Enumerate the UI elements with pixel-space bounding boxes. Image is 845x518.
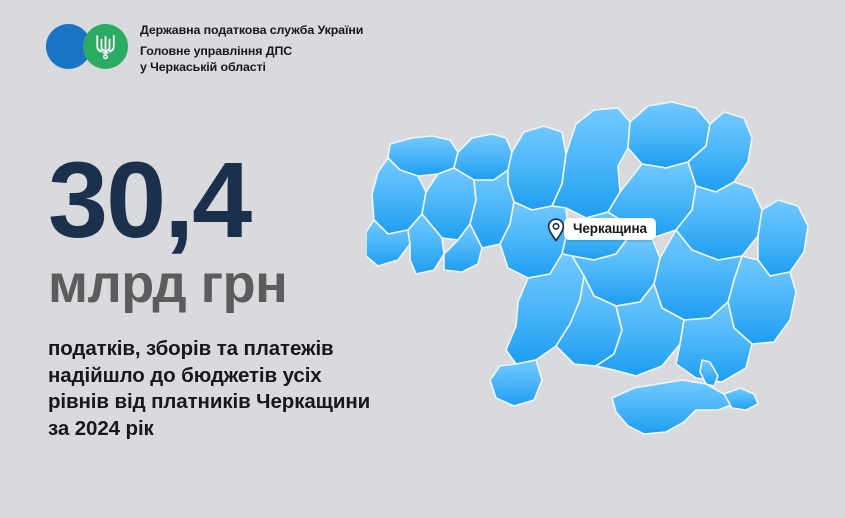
map-pin-icon [547,218,565,242]
logo-green-circle-icon [83,24,128,69]
ukraine-map [366,88,845,448]
organization-name-block: Державна податкова служба України Головн… [140,22,363,75]
ukraine-map-svg [366,88,845,448]
region-label-cherkasy: Черкащина [564,218,656,240]
organization-department-line2: у Черкаській області [140,59,363,75]
organization-department-line1: Головне управління ДПС [140,43,363,59]
dps-logo [46,22,128,70]
ukraine-trident-icon [94,34,117,60]
organization-title: Державна податкова служба України [140,23,363,38]
organization-header: Державна податкова служба України Головн… [46,22,363,75]
